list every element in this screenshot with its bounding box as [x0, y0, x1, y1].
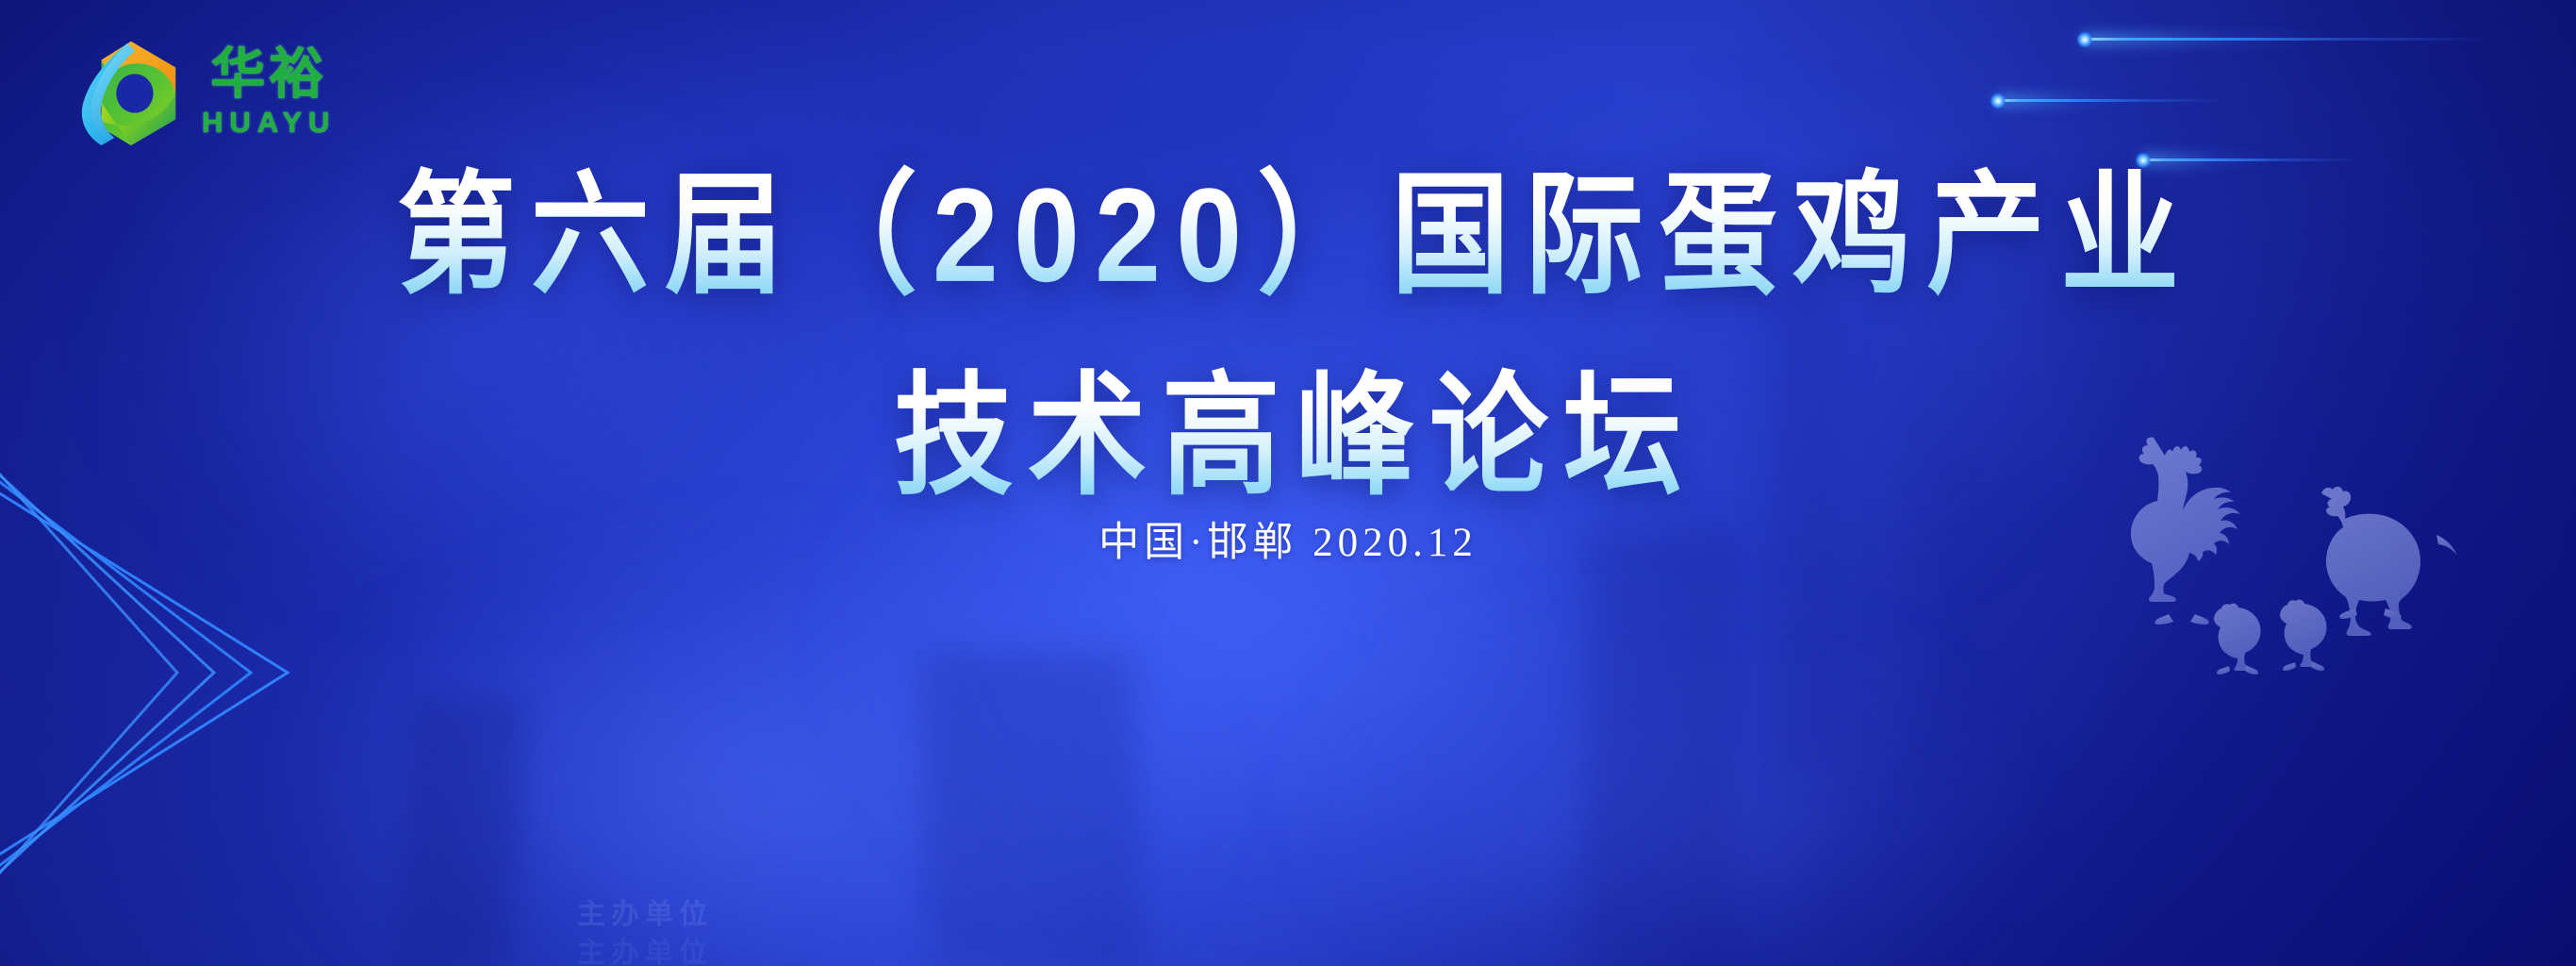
title-line-1: 第六届（2020）国际蛋鸡产业	[0, 142, 2576, 330]
chick-silhouette-right	[2280, 600, 2326, 671]
ghost-text-line-1: 主办单位	[577, 896, 713, 935]
logo-chinese-name: 华裕	[210, 47, 327, 102]
ghost-text-line-2: 主办单位	[577, 935, 713, 966]
huayu-logo[interactable]: 华裕 HUAYU	[74, 36, 336, 151]
comet-core	[2084, 38, 2489, 41]
huayu-logo-wordmark: 华裕 HUAYU	[202, 47, 336, 141]
comet-core	[1997, 99, 2223, 102]
huayu-hexagon-logo-icon	[74, 36, 185, 151]
comet-line-1	[2084, 38, 2489, 41]
comet-line-2	[1997, 99, 2223, 102]
title-line-2: 技术高峰论坛	[0, 342, 2576, 531]
event-location-date: 中国·邯郸 2020.12	[0, 509, 2576, 568]
headline-block: 第六届（2020）国际蛋鸡产业 技术高峰论坛	[0, 142, 2576, 511]
ghost-organizer-text: 主办单位 主办单位	[577, 896, 713, 966]
logo-english-name: HUAYU	[202, 108, 336, 137]
comet-head-dot	[2077, 32, 2092, 47]
chick-silhouette-left	[2214, 604, 2260, 675]
comet-head-dot	[1990, 93, 2006, 108]
event-banner: 华裕 HUAYU	[0, 0, 2576, 966]
